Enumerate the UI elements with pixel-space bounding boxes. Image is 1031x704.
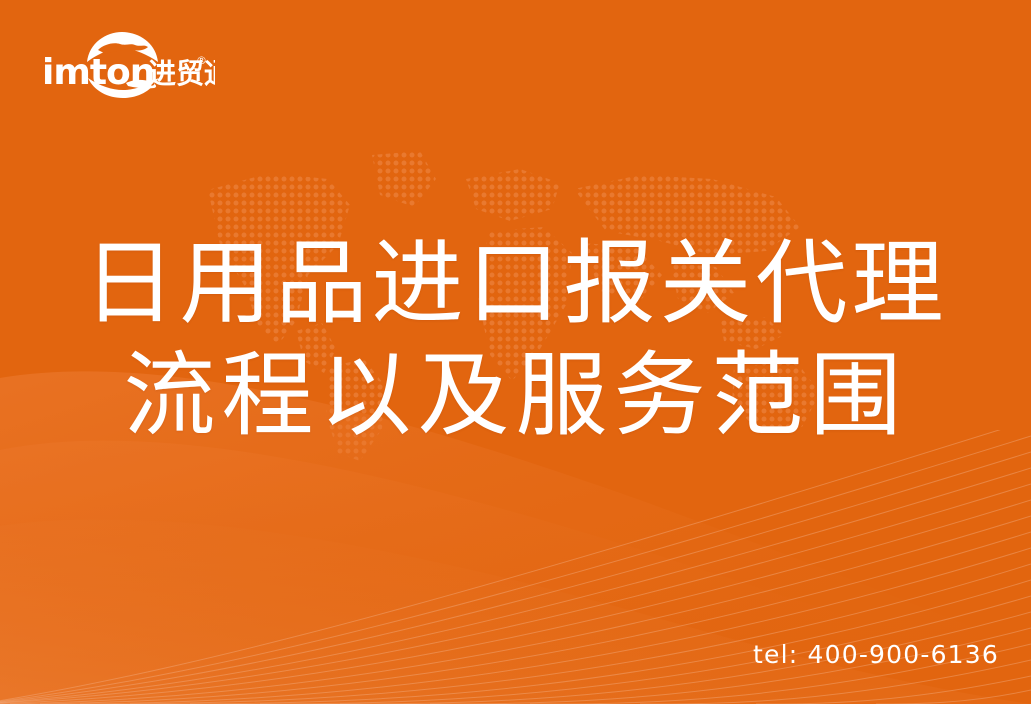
contact-phone-number[interactable]: tel: 400-900-6136 — [753, 640, 999, 669]
promotional-banner: imton 进贸通 ® 日用品进口报关代理 流程以及服务范围 tel: 400-… — [0, 0, 1031, 704]
registered-trademark-icon: ® — [196, 54, 207, 67]
headline-line-1: 日用品进口报关代理 — [0, 228, 1031, 340]
company-logo[interactable]: imton 进贸通 ® — [40, 26, 215, 102]
globe-logo-icon: imton 进贸通 ® — [40, 26, 215, 102]
headline-line-2: 流程以及服务范围 — [0, 340, 1031, 452]
logo-wordmark: imton — [42, 52, 154, 93]
page-title: 日用品进口报关代理 流程以及服务范围 — [0, 228, 1031, 452]
